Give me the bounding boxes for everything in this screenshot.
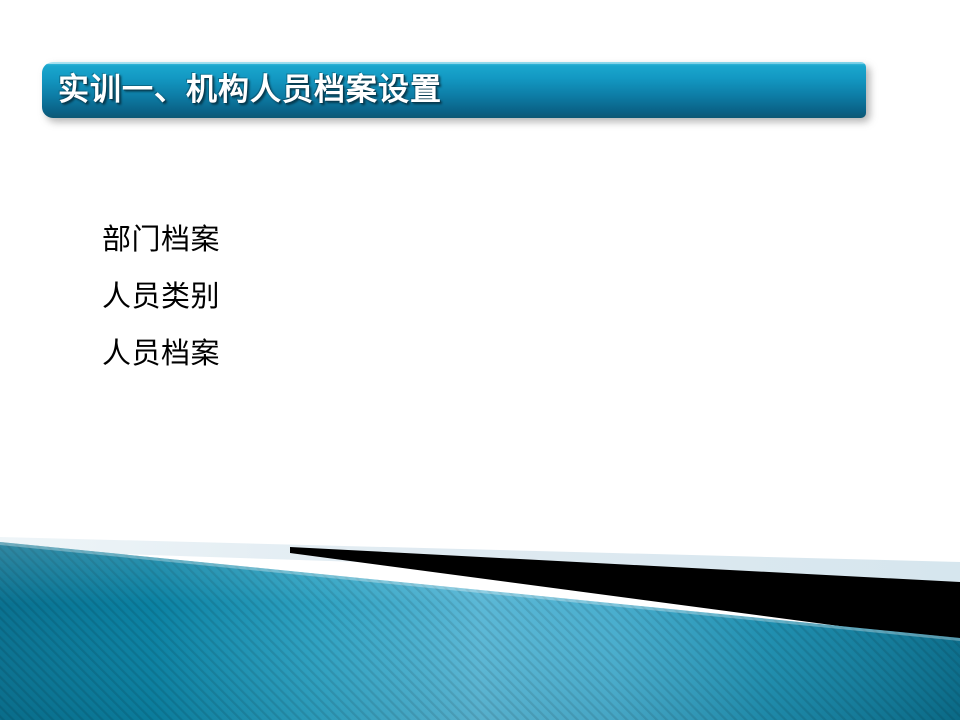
list-item-label: 部门档案 bbox=[102, 226, 220, 255]
bullet-list: 部门档案 人员类别 人员档案 bbox=[78, 212, 798, 383]
bottom-wave-svg bbox=[0, 520, 960, 720]
bottom-wave-graphic bbox=[0, 520, 960, 720]
list-item-label: 人员档案 bbox=[102, 340, 220, 369]
page-title: 实训一、机构人员档案设置 bbox=[58, 66, 858, 114]
slide-canvas: 实训一、机构人员档案设置 部门档案 人员类别 人员档案 bbox=[0, 0, 960, 720]
list-item[interactable]: 人员类别 bbox=[78, 269, 798, 326]
diamond-bullet-icon bbox=[78, 287, 100, 309]
diamond-bullet-icon bbox=[78, 230, 100, 252]
list-item-label: 人员类别 bbox=[102, 283, 220, 312]
diamond-bullet-icon bbox=[78, 344, 100, 366]
list-item[interactable]: 人员档案 bbox=[78, 326, 798, 383]
list-item[interactable]: 部门档案 bbox=[78, 212, 798, 269]
